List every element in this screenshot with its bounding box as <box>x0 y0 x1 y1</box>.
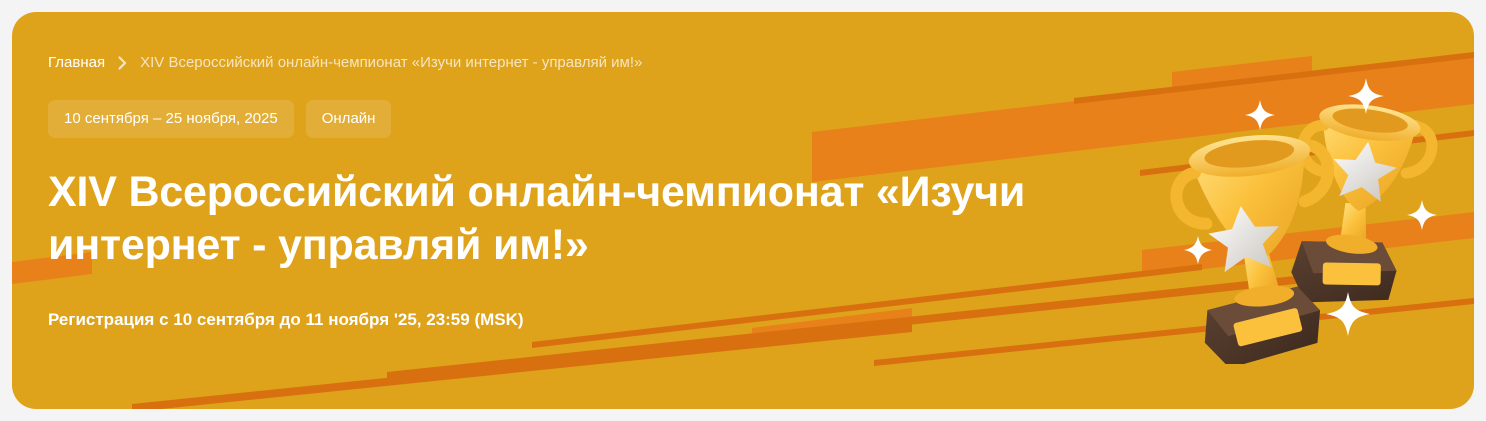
page-title: XIV Всероссийский онлайн-чемпионат «Изуч… <box>48 166 1108 272</box>
breadcrumb-item-home[interactable]: Главная <box>48 52 105 74</box>
breadcrumb-item-current: XIV Всероссийский онлайн-чемпионат «Изуч… <box>140 52 642 74</box>
hero-content: Главная XIV Всероссийский онлайн-чемпион… <box>48 52 1144 332</box>
meta-badges: 10 сентября – 25 ноября, 2025 Онлайн <box>48 100 1144 138</box>
chevron-right-icon <box>118 56 127 70</box>
badge-format: Онлайн <box>306 100 392 138</box>
badge-dates: 10 сентября – 25 ноября, 2025 <box>48 100 294 138</box>
registration-period: Регистрация с 10 сентября до 11 ноября '… <box>48 308 1144 332</box>
event-hero-banner: Главная XIV Всероссийский онлайн-чемпион… <box>12 12 1474 409</box>
two-trophies-illustration <box>1156 64 1456 364</box>
breadcrumb: Главная XIV Всероссийский онлайн-чемпион… <box>48 52 1144 74</box>
